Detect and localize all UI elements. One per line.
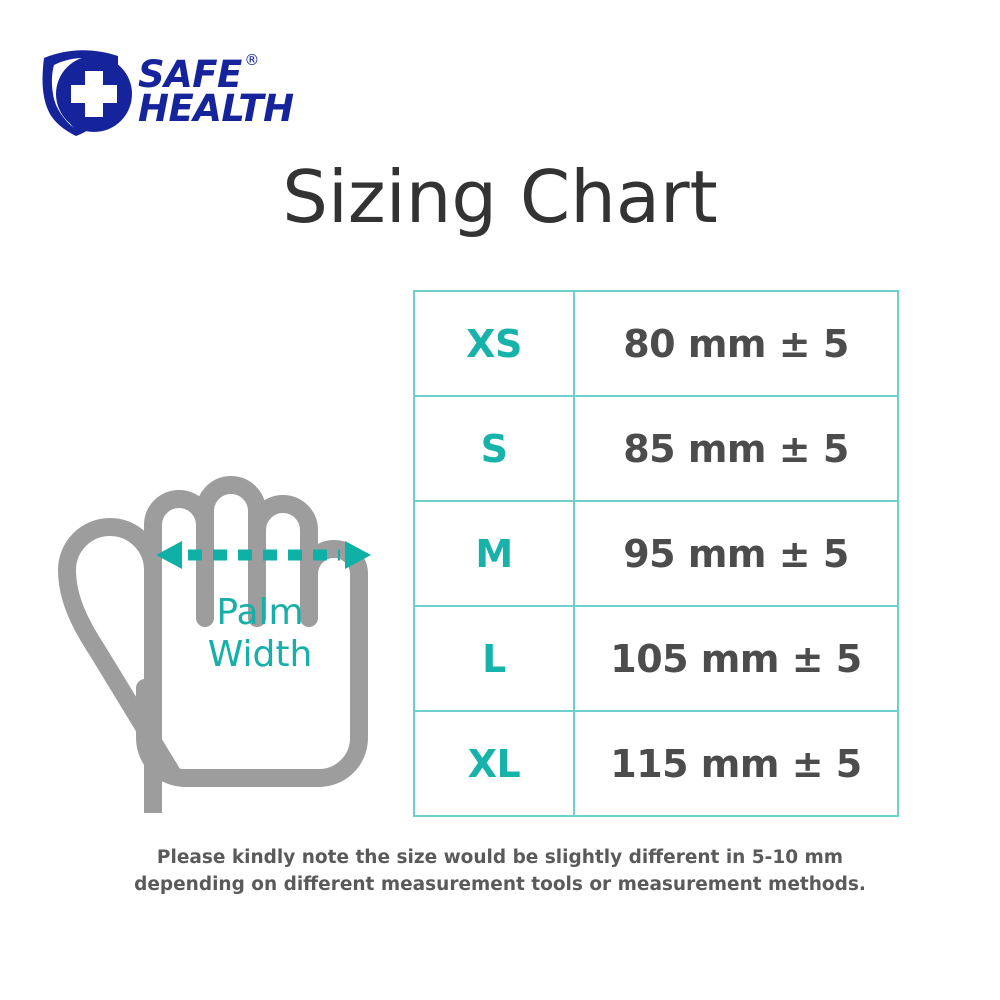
table-row: M 95 mm ± 5 bbox=[414, 501, 898, 606]
table-row: S 85 mm ± 5 bbox=[414, 396, 898, 501]
size-label: XS bbox=[414, 291, 574, 396]
size-label: M bbox=[414, 501, 574, 606]
size-label: XL bbox=[414, 711, 574, 816]
footnote-line-1: Please kindly note the size would be sli… bbox=[100, 845, 900, 872]
registered-trademark-icon: ® bbox=[244, 54, 259, 68]
measurement-value: 115 mm ± 5 bbox=[574, 711, 898, 816]
palm-width-label-line-2: Width bbox=[150, 634, 370, 676]
table-row: XL 115 mm ± 5 bbox=[414, 711, 898, 816]
brand-logo: SAFE ® HEALTH bbox=[38, 44, 338, 140]
footnote-line-2: depending on different measurement tools… bbox=[100, 872, 900, 899]
brand-name-line-2: HEALTH bbox=[138, 92, 294, 126]
shield-medical-cross-icon bbox=[38, 46, 134, 138]
sizing-table-body: XS 80 mm ± 5 S 85 mm ± 5 M 95 mm ± 5 L 1… bbox=[414, 291, 898, 816]
sizing-chart-table: XS 80 mm ± 5 S 85 mm ± 5 M 95 mm ± 5 L 1… bbox=[413, 290, 899, 817]
palm-width-label-line-1: Palm bbox=[150, 592, 370, 634]
table-row: XS 80 mm ± 5 bbox=[414, 291, 898, 396]
brand-wordmark: SAFE ® HEALTH bbox=[138, 58, 294, 126]
measurement-value: 105 mm ± 5 bbox=[574, 606, 898, 711]
size-label: L bbox=[414, 606, 574, 711]
double-headed-dashed-arrow-icon bbox=[156, 533, 371, 577]
size-label: S bbox=[414, 396, 574, 501]
measurement-value: 80 mm ± 5 bbox=[574, 291, 898, 396]
brand-name-safe: SAFE bbox=[138, 53, 242, 96]
measurement-value: 95 mm ± 5 bbox=[574, 501, 898, 606]
table-row: L 105 mm ± 5 bbox=[414, 606, 898, 711]
palm-width-label: Palm Width bbox=[150, 592, 370, 677]
measurement-value: 85 mm ± 5 bbox=[574, 396, 898, 501]
page-title: Sizing Chart bbox=[0, 155, 1000, 239]
footnote: Please kindly note the size would be sli… bbox=[100, 845, 900, 899]
